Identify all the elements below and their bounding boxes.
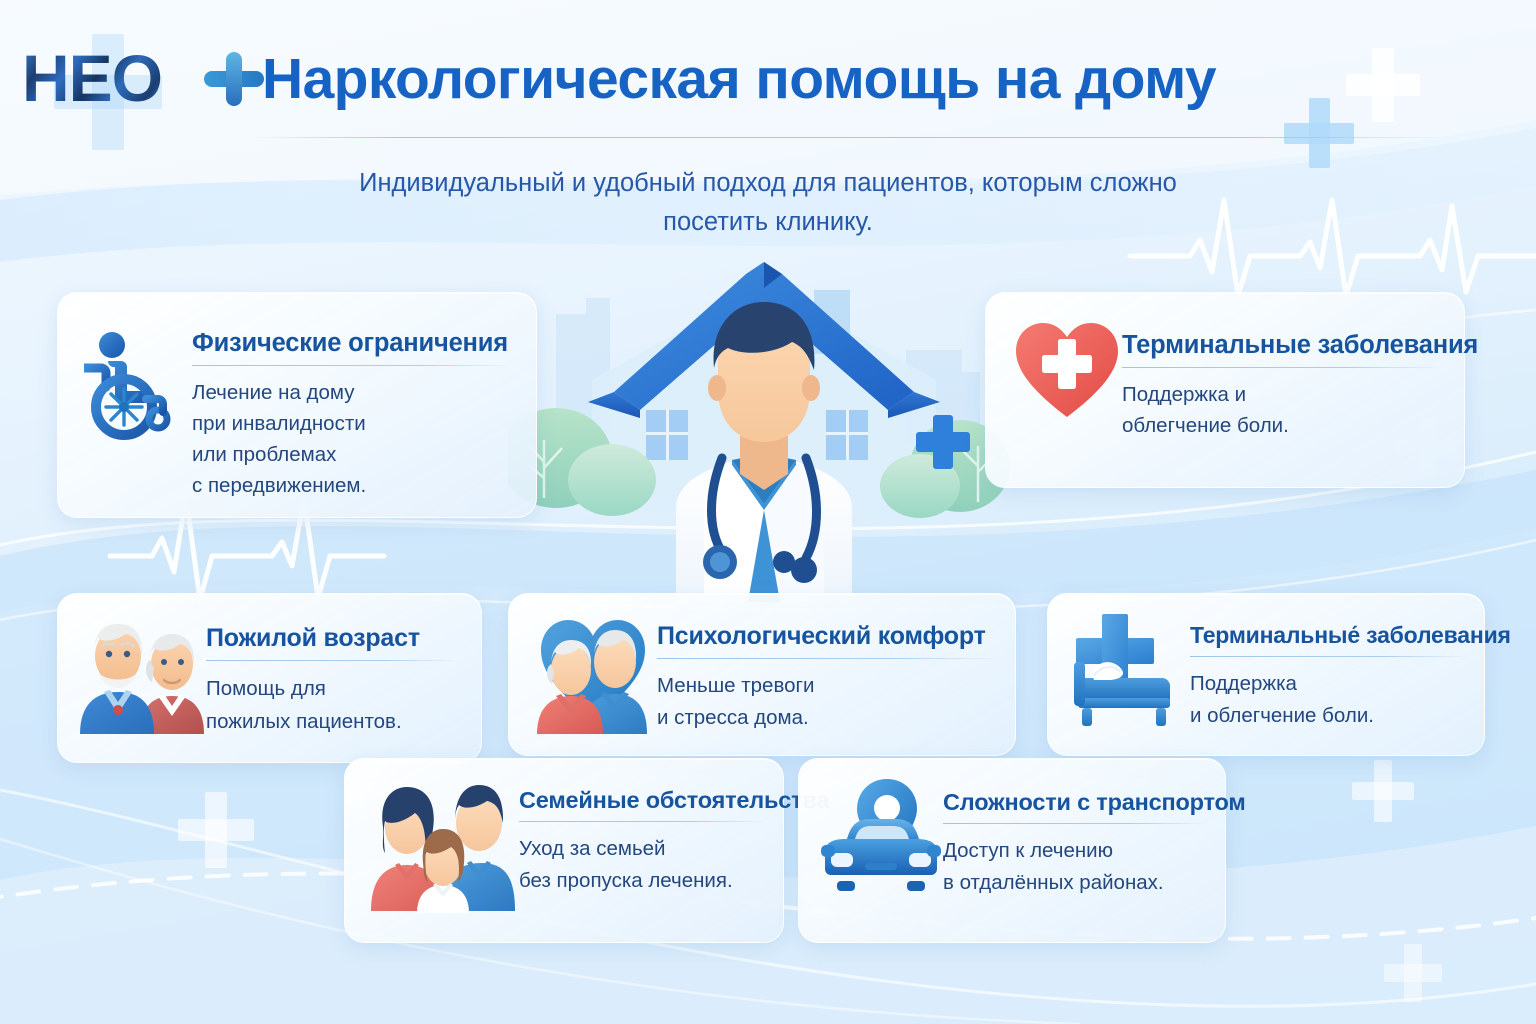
car-location-pin-icon xyxy=(821,777,943,901)
card-title: Пожилой возраст xyxy=(206,624,461,653)
logo-wordmark: НЕО xyxy=(22,44,162,112)
wheelchair-icon xyxy=(84,321,192,441)
cross-watermark-icon xyxy=(178,792,254,868)
card-description: Лечение на дому при инвалидности или про… xyxy=(192,377,514,501)
plus-icon xyxy=(204,52,264,106)
page-subtitle: Индивидуальный и удобный подход для паци… xyxy=(318,164,1218,242)
card-description: Поддержка и облегчение боли. xyxy=(1122,379,1442,441)
card-title: Семейные обстоятельства xyxy=(519,787,767,814)
card-divider xyxy=(657,658,997,659)
card-description: Доступ к лечению в отдалённых районах. xyxy=(943,835,1209,899)
infographic-canvas: НЕО Наркологическая помощь на дому Индив… xyxy=(0,0,1536,1024)
card-divider xyxy=(1122,367,1442,368)
card-description: Меньше тревоги и стресса дома. xyxy=(657,670,997,734)
doctor-at-home-illustration xyxy=(508,262,1018,602)
card-physical-limitations[interactable]: Физические ограничения Лечение на дому п… xyxy=(57,292,537,518)
card-divider xyxy=(1190,656,1468,657)
card-terminal-illness-heart[interactable]: Терминальные заболевания Поддержка и обл… xyxy=(985,292,1465,488)
cross-watermark-icon xyxy=(1352,760,1414,822)
card-elderly-age[interactable]: Пожилой возраст Помощь для пожилых пацие… xyxy=(57,593,482,763)
title-divider xyxy=(250,137,1454,138)
card-divider xyxy=(206,660,461,661)
card-title: Терминальные́ заболевания xyxy=(1190,622,1468,649)
card-description: Помощь для пожилых пациентов. xyxy=(206,672,461,738)
card-title: Психологический комфорт xyxy=(657,622,997,651)
card-title: Терминальные заболевания xyxy=(1122,331,1442,360)
family-icon xyxy=(367,775,519,915)
page-header: НЕО Наркологическая помощь на дому Индив… xyxy=(0,0,1536,150)
brand-logo[interactable]: НЕО xyxy=(22,44,266,112)
card-divider xyxy=(519,821,767,822)
card-divider xyxy=(192,365,514,366)
card-divider xyxy=(943,823,1209,824)
card-title: Сложности с транспортом xyxy=(943,789,1209,816)
card-terminal-illness-bed[interactable]: Терминальные́ заболевания Поддержка и об… xyxy=(1047,593,1485,756)
card-family-circumstances[interactable]: Семейные обстоятельства Уход за семьей б… xyxy=(344,758,784,943)
card-description: Поддержка и облегчение боли. xyxy=(1190,668,1468,732)
elderly-couple-icon xyxy=(78,612,206,740)
two-people-heart-icon xyxy=(531,608,657,738)
page-title: Наркологическая помощь на дому xyxy=(262,46,1216,112)
card-description: Уход за семьей без пропуска лечения. xyxy=(519,833,767,897)
cross-watermark-icon xyxy=(1384,944,1442,1002)
heart-cross-icon xyxy=(1012,319,1122,423)
hospital-bed-cross-icon xyxy=(1070,612,1190,730)
card-title: Физические ограничения xyxy=(192,329,514,358)
card-psychological-comfort[interactable]: Психологический комфорт Меньше тревоги и… xyxy=(508,593,1016,756)
card-transport-difficulties[interactable]: Сложности с транспортом Доступ к лечению… xyxy=(798,758,1226,943)
